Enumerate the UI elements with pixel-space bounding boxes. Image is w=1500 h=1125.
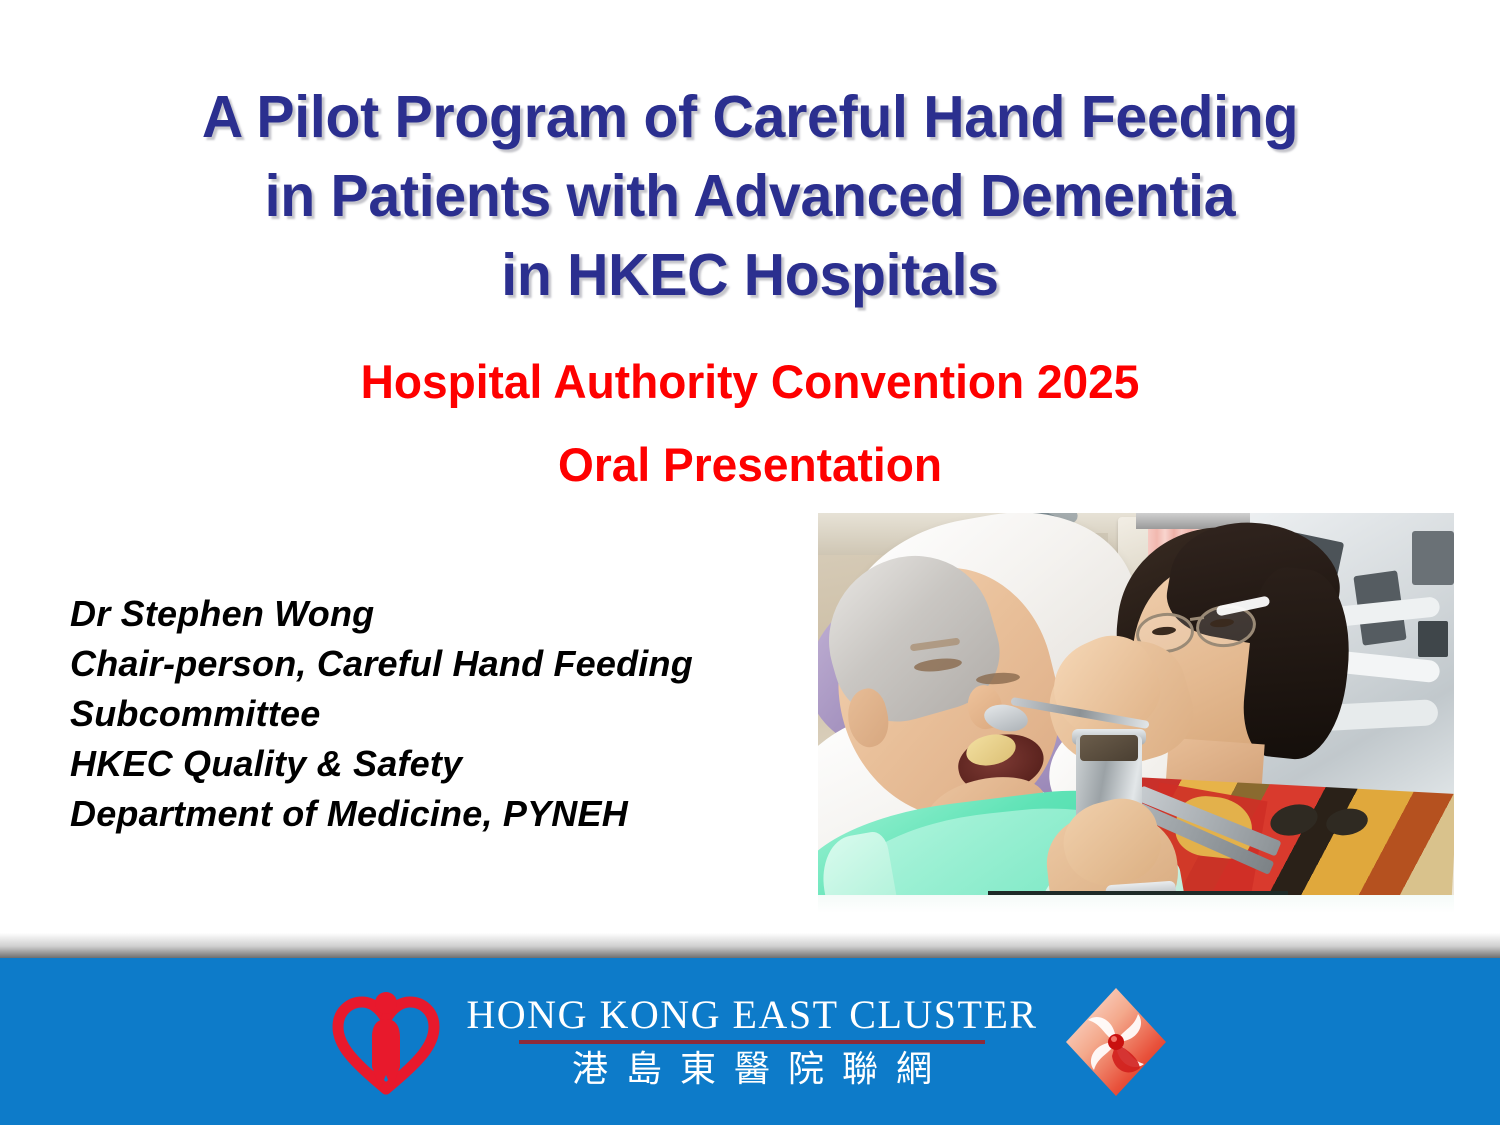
subtitle-line-1: Hospital Authority Convention 2025	[15, 340, 1485, 423]
hospital-authority-heart-logo	[332, 989, 440, 1095]
pinwheel-diamond-logo	[1064, 986, 1168, 1098]
event-subtitle: Hospital Authority Convention 2025 Oral …	[0, 340, 1500, 506]
banner-gradient-divider	[0, 913, 1500, 958]
cluster-name-english: HONG KONG EAST CLUSTER	[466, 992, 1037, 1038]
cluster-name-chinese: 港島東醫院聯網	[554, 1048, 950, 1092]
page-title: A Pilot Program of Careful Hand Feeding …	[0, 78, 1500, 315]
subtitle-line-2: Oral Presentation	[15, 423, 1485, 506]
title-line-3: in HKEC Hospitals	[23, 236, 1478, 315]
cluster-name-rule	[519, 1040, 985, 1044]
author-department-line-1: HKEC Quality & Safety	[70, 739, 830, 789]
title-line-1: A Pilot Program of Careful Hand Feeding	[23, 78, 1478, 157]
cluster-name-block: HONG KONG EAST CLUSTER 港島東醫院聯網	[466, 992, 1037, 1092]
author-role-line-1: Chair-person, Careful Hand Feeding	[70, 639, 830, 689]
hand-feeding-photo	[818, 513, 1454, 913]
author-affiliation-block: Dr Stephen Wong Chair-person, Careful Ha…	[70, 589, 830, 839]
author-department-line-2: Department of Medicine, PYNEH	[70, 789, 830, 839]
presentation-title-slide: A Pilot Program of Careful Hand Feeding …	[0, 0, 1500, 1125]
author-name: Dr Stephen Wong	[70, 589, 830, 639]
footer-banner: HONG KONG EAST CLUSTER 港島東醫院聯網	[0, 958, 1500, 1125]
author-role-line-2: Subcommittee	[70, 689, 830, 739]
title-line-2: in Patients with Advanced Dementia	[23, 157, 1478, 236]
